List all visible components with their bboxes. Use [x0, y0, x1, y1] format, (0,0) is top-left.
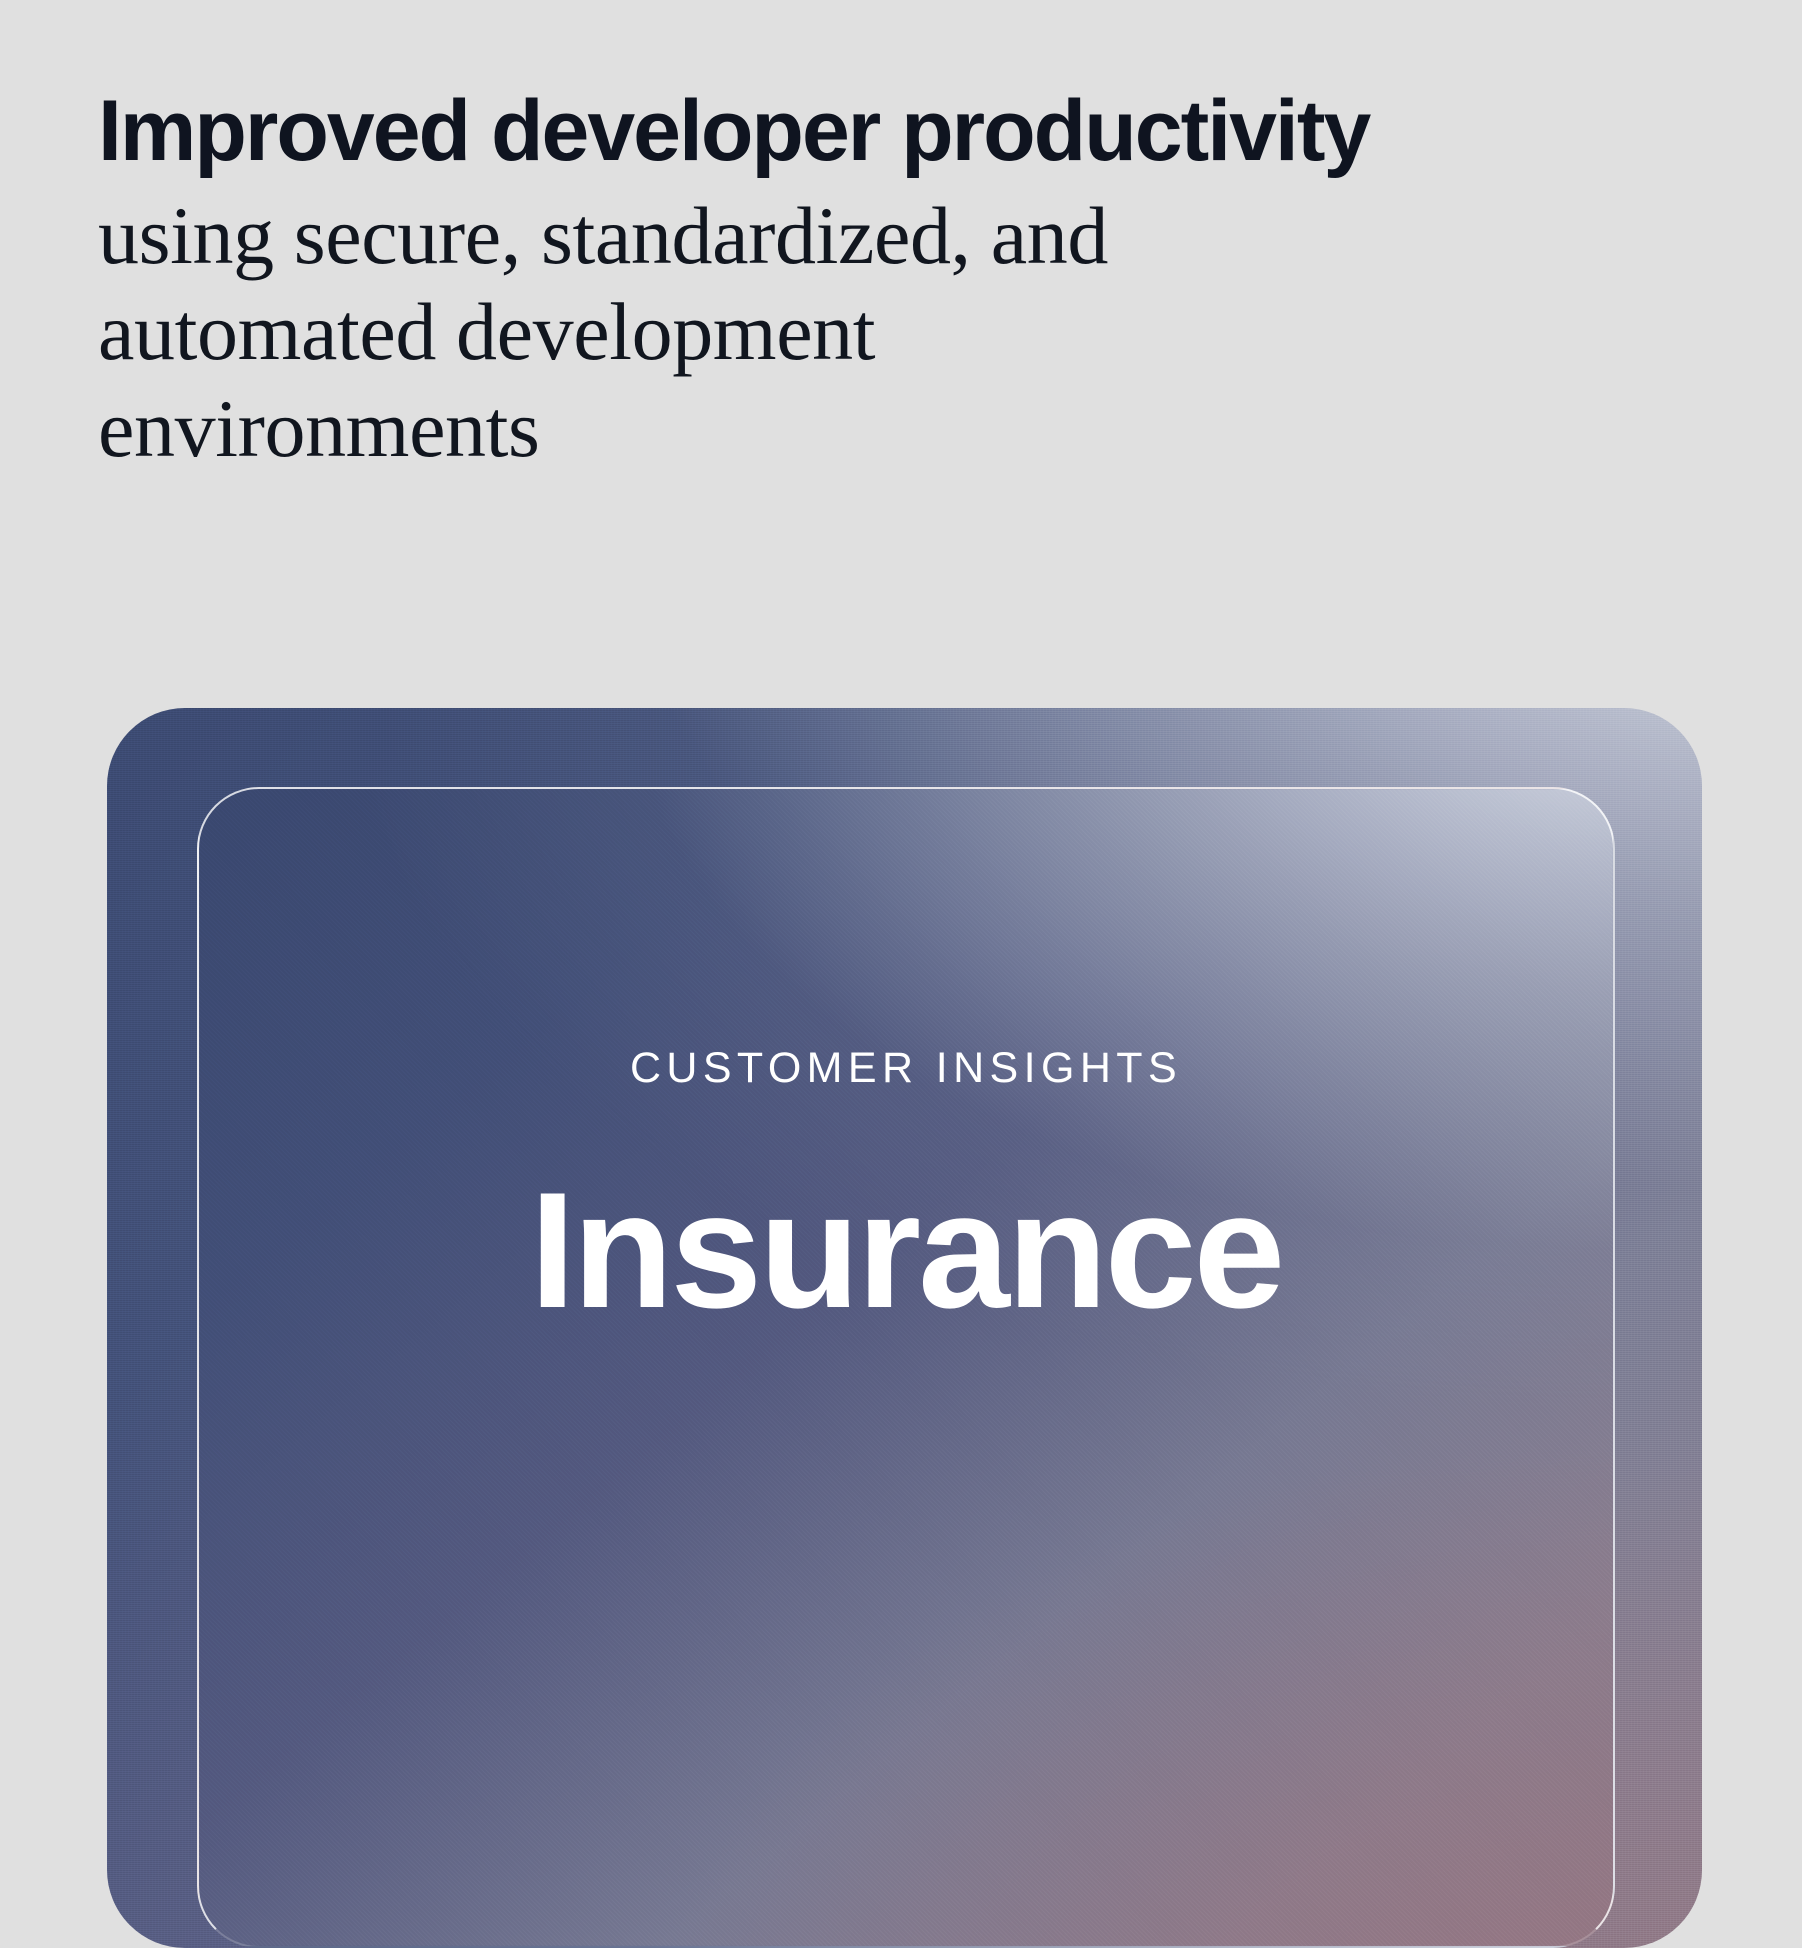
insight-card-outer-frame: CUSTOMER INSIGHTS Insurance — [107, 708, 1702, 1948]
subtitle-line-1: using secure, standardized, and — [98, 188, 1328, 285]
subtitle-line-2: automated development — [98, 284, 1328, 381]
insight-card[interactable]: CUSTOMER INSIGHTS Insurance — [197, 787, 1615, 1948]
page-subtitle: using secure, standardized, and automate… — [98, 188, 1328, 478]
card-title: Insurance — [239, 1168, 1573, 1333]
card-inner-noise-texture — [199, 789, 1613, 1946]
page-title: Improved developer productivity — [98, 88, 1518, 176]
subtitle-line-3: environments — [98, 381, 1328, 478]
heading-block: Improved developer productivity using se… — [98, 88, 1518, 478]
card-text-block: CUSTOMER INSIGHTS Insurance — [199, 1047, 1613, 1333]
card-eyebrow-label: CUSTOMER INSIGHTS — [239, 1047, 1573, 1090]
